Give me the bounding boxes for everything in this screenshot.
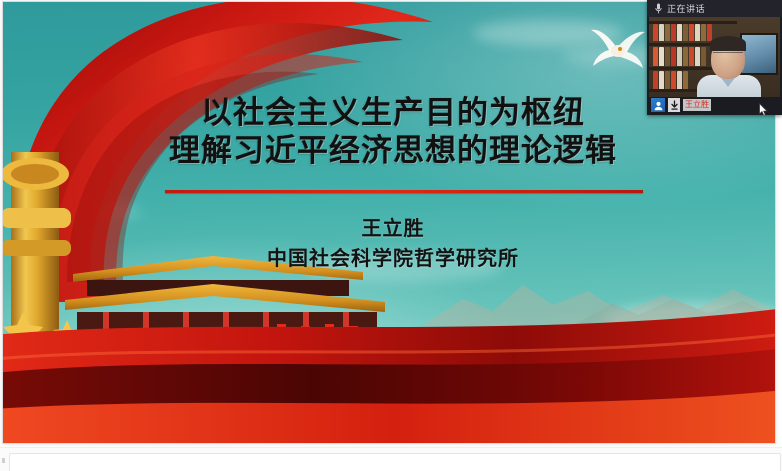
book	[665, 24, 670, 41]
message-input[interactable]	[9, 453, 781, 471]
book	[653, 24, 658, 41]
video-feed[interactable]	[649, 17, 780, 97]
book	[659, 24, 664, 41]
book	[689, 24, 694, 41]
book	[653, 47, 658, 66]
book	[659, 71, 664, 89]
participant-name-label: 王立胜	[683, 99, 711, 111]
dove-icon	[587, 18, 647, 74]
monitor-screen	[740, 33, 778, 75]
presenter-name: 王立胜	[123, 214, 663, 244]
book	[701, 47, 706, 66]
red-ribbon-foreground	[3, 289, 775, 443]
book	[677, 47, 682, 66]
book	[695, 24, 700, 41]
bottom-toolbar	[0, 447, 782, 471]
resize-handle[interactable]	[2, 458, 5, 463]
book	[677, 71, 682, 89]
book	[671, 47, 676, 66]
speaking-status-label: 正在讲话	[667, 2, 705, 15]
microphone-icon[interactable]	[655, 3, 662, 14]
slide-title-line-2: 理解习近平经济思想的理论逻辑	[123, 132, 663, 170]
book	[695, 47, 700, 66]
download-arrow-icon[interactable]	[668, 98, 680, 112]
shared-screen-stage[interactable]: 中华人民共和国万岁	[0, 0, 782, 447]
book	[665, 71, 670, 89]
book	[677, 24, 682, 41]
user-avatar-icon	[651, 98, 665, 112]
slide-subtitle-block: 王立胜 中国社会科学院哲学研究所	[123, 214, 663, 274]
person-glasses	[713, 52, 743, 60]
book	[671, 71, 676, 89]
book	[665, 47, 670, 66]
presenter-affiliation: 中国社会科学院哲学研究所	[123, 244, 663, 274]
video-status-bar: 正在讲话	[647, 0, 782, 17]
slide-title-block: 以社会主义生产目的为枢纽 理解习近平经济思想的理论逻辑	[123, 94, 663, 170]
person-hair	[710, 36, 746, 51]
speaker-video-thumbnail[interactable]: 正在讲话	[647, 0, 782, 115]
book	[707, 24, 712, 41]
book	[671, 24, 676, 41]
slide-title-line-1: 以社会主义生产目的为枢纽	[123, 94, 663, 132]
conference-window: 中华人民共和国万岁	[0, 0, 782, 471]
book	[683, 24, 688, 41]
book	[701, 24, 706, 41]
title-divider-rule	[165, 190, 643, 193]
mouse-cursor	[759, 103, 768, 115]
book	[659, 47, 664, 66]
book	[653, 71, 658, 89]
book	[683, 71, 688, 89]
book	[689, 47, 694, 66]
book	[683, 47, 688, 66]
